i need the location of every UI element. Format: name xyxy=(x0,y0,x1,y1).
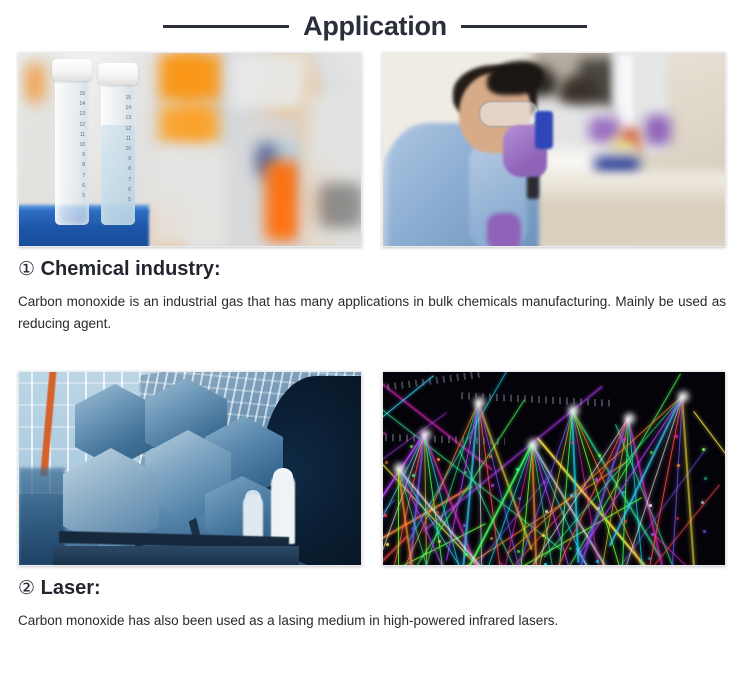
title-rule-left xyxy=(163,25,289,28)
image-row-1: 15141312111098765 15141312111098765 xyxy=(18,52,726,247)
laser-light-show-photo xyxy=(382,371,726,566)
scientist-pipetting-photo xyxy=(382,52,726,247)
section-laser: ② Laser: Carbon monoxide has also been u… xyxy=(18,575,728,632)
section-2-title: Laser: xyxy=(41,577,101,599)
section-1-heading: ① Chemical industry: xyxy=(18,256,728,283)
section-2-heading: ② Laser: xyxy=(18,575,728,602)
section-1-number: ① xyxy=(18,259,35,280)
page-title: Application xyxy=(303,11,447,41)
section-chemical-industry: ① Chemical industry: Carbon monoxide is … xyxy=(18,256,728,335)
title-rule-right xyxy=(461,25,587,28)
image-row-2 xyxy=(18,371,726,566)
tube-scale-right: 15141312111098765 xyxy=(105,93,131,205)
tube-scale-left: 15141312111098765 xyxy=(59,89,85,201)
hexagonal-telescope-mirrors-photo xyxy=(18,371,362,566)
application-page: Application xyxy=(0,0,750,675)
page-title-row: Application xyxy=(0,8,750,44)
section-2-body: Carbon monoxide has also been used as a … xyxy=(18,610,726,632)
section-1-title: Chemical industry: xyxy=(41,258,221,280)
lab-test-tubes-photo: 15141312111098765 15141312111098765 xyxy=(18,52,362,247)
section-2-number: ② xyxy=(18,578,35,599)
section-1-body: Carbon monoxide is an industrial gas tha… xyxy=(18,291,726,335)
